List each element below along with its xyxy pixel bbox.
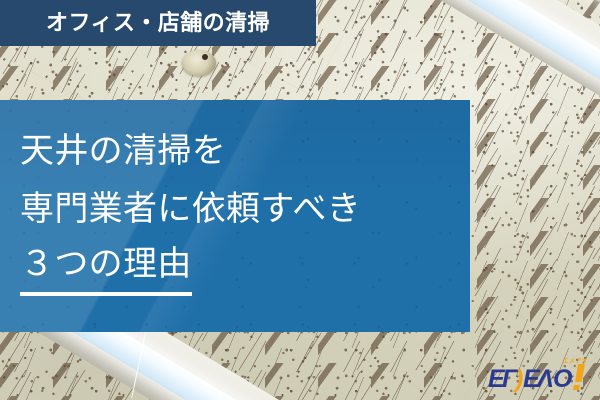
headline-text-block: 天井の清掃を 専門業者に依頼すべき ３つの理由	[20, 122, 470, 296]
headline-line-1: 天井の清掃を	[20, 122, 470, 180]
emeao-logo[interactable]: エメアオ E Γ ) E Λ O EMEAO!	[488, 356, 592, 394]
headline-line-3: ３つの理由	[20, 238, 192, 296]
ceiling-sensor-dome-icon	[182, 50, 216, 76]
svg-text:Λ: Λ	[535, 365, 553, 393]
article-thumbnail-banner: オフィス・店舗の清掃 天井の清掃を 専門業者に依頼すべき ３つの理由 エメアオ …	[0, 0, 600, 400]
category-tag-label: オフィス・店舗の清掃	[46, 12, 270, 34]
svg-text:O: O	[553, 365, 573, 393]
category-tag: オフィス・店舗の清掃	[0, 0, 316, 46]
logo-kana-label: エメアオ	[563, 356, 588, 365]
headline-panel: 天井の清掃を 専門業者に依頼すべき ３つの理由	[0, 100, 470, 332]
headline-line-2: 専門業者に依頼すべき	[20, 180, 470, 238]
